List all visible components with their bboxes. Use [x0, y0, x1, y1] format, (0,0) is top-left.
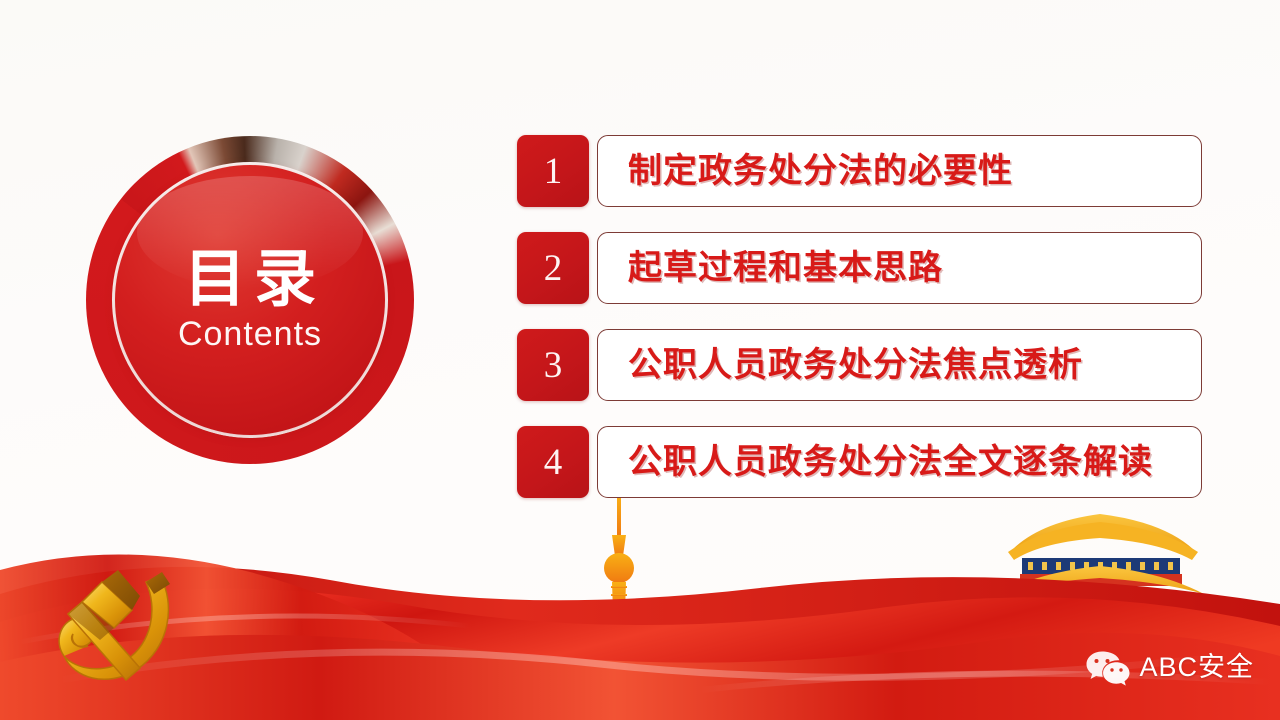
toc-label-1: 制定政务处分法的必要性: [628, 154, 1013, 188]
contents-badge: 目录 Contents: [86, 136, 414, 464]
cpc-hammer-sickle-emblem: [48, 552, 208, 702]
toc-label-2: 起草过程和基本思路: [628, 251, 943, 285]
toc-label-4: 公职人员政务处分法全文逐条解读: [628, 445, 1153, 479]
toc-number-3: 3: [517, 329, 589, 401]
wechat-icon: [1085, 648, 1131, 686]
toc-label-box-2[interactable]: 起草过程和基本思路: [597, 232, 1202, 304]
toc-label-box-1[interactable]: 制定政务处分法的必要性: [597, 135, 1202, 207]
watermark-text: ABC安全: [1139, 654, 1254, 681]
tiananmen-gate-illustration: [982, 502, 1222, 662]
red-silk-ribbon-wave: [0, 530, 1280, 720]
toc-item-1[interactable]: 1 制定政务处分法的必要性: [517, 135, 1202, 207]
table-of-contents: 1 制定政务处分法的必要性 2 起草过程和基本思路 3 公职人员政务处分法焦点透…: [517, 135, 1202, 498]
watermark: ABC安全: [1085, 648, 1254, 686]
toc-item-4[interactable]: 4 公职人员政务处分法全文逐条解读: [517, 426, 1202, 498]
toc-label-3: 公职人员政务处分法焦点透析: [628, 348, 1083, 382]
badge-title: 目录: [176, 247, 324, 312]
slide-root: 目录 Contents 1 制定政务处分法的必要性 2 起草过程和基本思路 3 …: [0, 0, 1280, 720]
badge-subtitle: Contents: [178, 316, 322, 353]
toc-number-2: 2: [517, 232, 589, 304]
toc-number-4: 4: [517, 426, 589, 498]
toc-number-1: 1: [517, 135, 589, 207]
badge-core: 目录 Contents: [115, 165, 385, 435]
toc-item-3[interactable]: 3 公职人员政务处分法焦点透析: [517, 329, 1202, 401]
toc-label-box-4[interactable]: 公职人员政务处分法全文逐条解读: [597, 426, 1202, 498]
toc-item-2[interactable]: 2 起草过程和基本思路: [517, 232, 1202, 304]
toc-label-box-3[interactable]: 公职人员政务处分法焦点透析: [597, 329, 1202, 401]
